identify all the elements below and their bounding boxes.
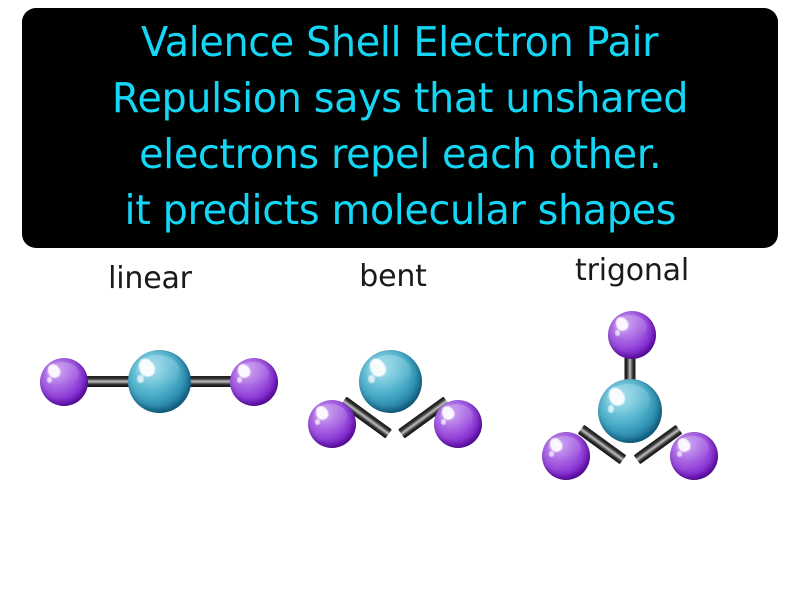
definition-line-3: electrons repel each other. xyxy=(139,126,661,182)
shape-cell-linear: linear xyxy=(18,248,282,600)
definition-line-1: Valence Shell Electron Pair xyxy=(141,14,658,70)
outer-atom-bent-2 xyxy=(434,400,482,448)
outer-atom-trigonal-top xyxy=(608,311,656,359)
definition-line-4: it predicts molecular shapes xyxy=(124,182,676,238)
atom-highlight-small-icon xyxy=(549,451,554,457)
molecule-diagram-trigonal xyxy=(520,248,744,600)
atom-highlight-small-icon xyxy=(315,419,320,425)
shape-cell-trigonal: trigonal xyxy=(520,248,744,600)
atom-highlight-small-icon xyxy=(237,377,242,383)
atom-highlight-small-icon xyxy=(368,375,374,383)
central-atom-linear xyxy=(128,350,191,413)
outer-atom-linear-1 xyxy=(40,358,88,406)
atom-highlight-small-icon xyxy=(615,330,620,336)
central-atom-bent xyxy=(359,350,422,413)
outer-atom-linear-2 xyxy=(230,358,278,406)
atom-highlight-small-icon xyxy=(677,451,682,457)
outer-atom-trigonal-bottom-left xyxy=(542,432,590,480)
outer-atom-bent-1 xyxy=(308,400,356,448)
definition-banner: Valence Shell Electron Pair Repulsion sa… xyxy=(22,8,778,248)
central-atom-trigonal xyxy=(598,379,662,443)
atom-highlight-small-icon xyxy=(47,377,52,383)
molecule-diagram-bent xyxy=(286,248,500,600)
molecule-diagram-linear xyxy=(18,248,282,600)
atom-highlight-small-icon xyxy=(608,405,614,413)
shape-cell-bent: bent xyxy=(286,248,500,600)
definition-line-2: Repulsion says that unshared xyxy=(112,70,688,126)
molecular-shapes-row: linear bent xyxy=(0,248,800,600)
atom-highlight-small-icon xyxy=(137,375,143,383)
outer-atom-trigonal-bottom-right xyxy=(670,432,718,480)
atom-highlight-small-icon xyxy=(441,419,446,425)
